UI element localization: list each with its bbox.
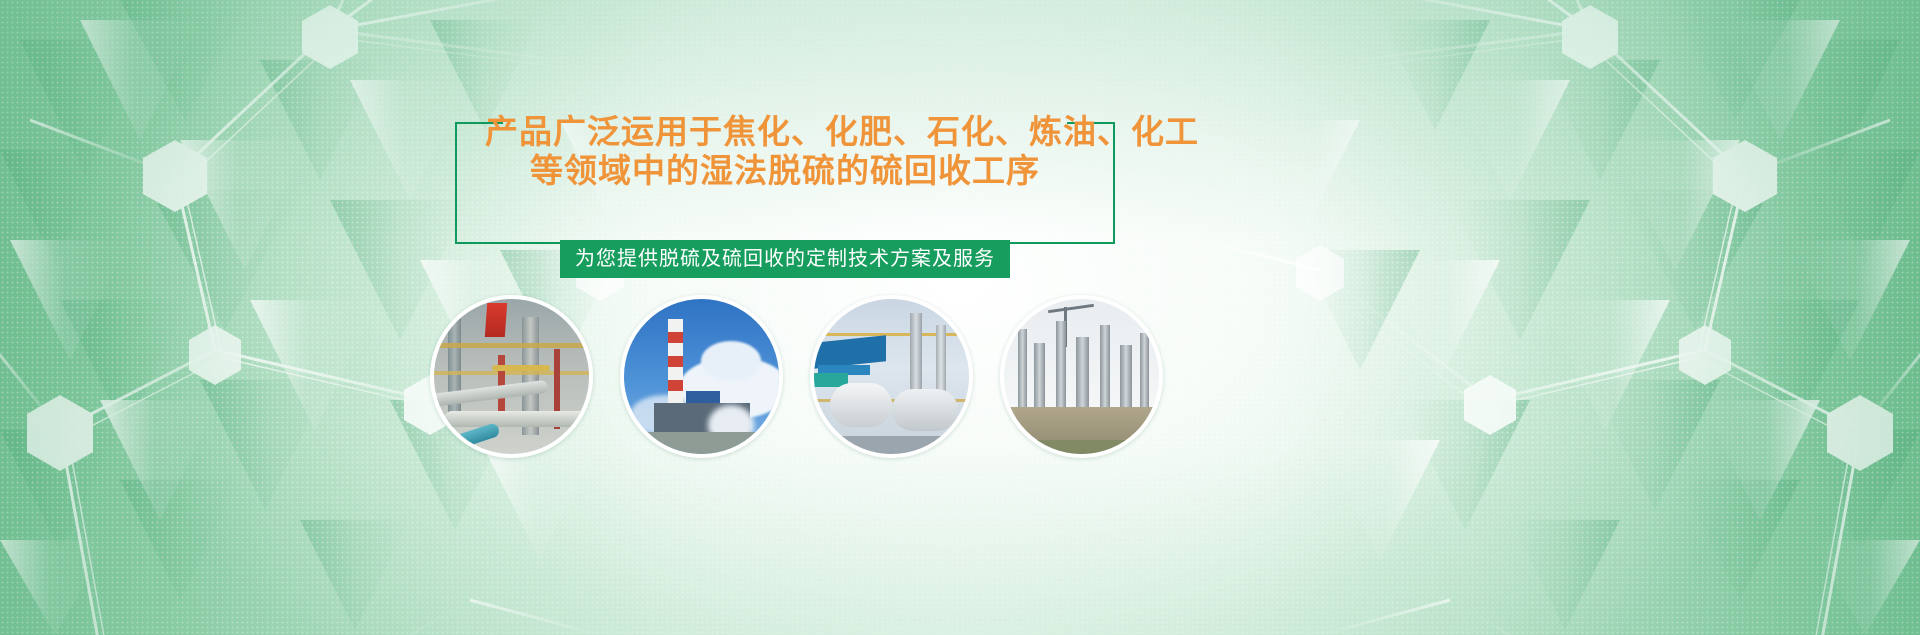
promo-banner: 产品广泛运用于焦化、化肥、石化、炼油、化工 等领域中的湿法脱硫的硫回收工序 为您… — [0, 0, 1920, 635]
photo-plant-piping — [430, 295, 593, 458]
headline-line-1: 产品广泛运用于焦化、化肥、石化、炼油、化工 — [485, 113, 1199, 150]
photo-circle-row — [0, 295, 1920, 450]
bracket-left-bottom-arm — [455, 242, 573, 244]
headline-line-2: 等领域中的湿法脱硫的硫回收工序 — [485, 151, 1085, 190]
tagline-badge: 为您提供脱硫及硫回收的定制技术方案及服务 — [560, 240, 1010, 278]
bracket-left-vertical — [455, 122, 457, 244]
photo-chimney-stack — [620, 295, 783, 458]
photo-refinery-vessels — [810, 295, 973, 458]
headline: 产品广泛运用于焦化、化肥、石化、炼油、化工 等领域中的湿法脱硫的硫回收工序 — [485, 112, 1085, 190]
photo-refinery-towers — [1000, 295, 1163, 458]
headline-bracket-frame: 产品广泛运用于焦化、化肥、石化、炼油、化工 等领域中的湿法脱硫的硫回收工序 — [455, 112, 1115, 257]
bracket-right-bottom-arm — [997, 242, 1115, 244]
